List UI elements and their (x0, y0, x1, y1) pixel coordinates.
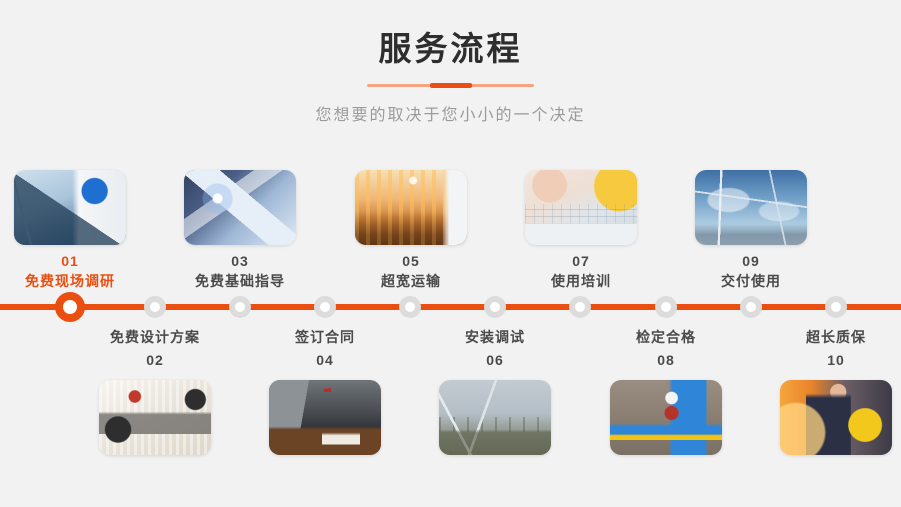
step-number-10: 10 (761, 350, 901, 370)
step-thumbnail-07 (525, 170, 637, 245)
step-label-01: 免费现场调研 (0, 271, 145, 292)
timeline-node-08[interactable] (655, 296, 677, 318)
step-card-06[interactable]: 安装调试 06 (420, 327, 570, 455)
step-thumbnail-06 (439, 380, 551, 455)
timeline-node-07[interactable] (569, 296, 591, 318)
page-title: 服务流程 (0, 28, 901, 70)
step-label-09: 交付使用 (676, 271, 826, 292)
timeline-node-02[interactable] (144, 296, 166, 318)
step-thumbnail-05 (355, 170, 467, 245)
step-label-03: 免费基础指导 (165, 271, 315, 292)
step-card-04[interactable]: 签订合同 04 (250, 327, 400, 455)
step-thumbnail-03 (184, 170, 296, 245)
timeline-node-09[interactable] (740, 296, 762, 318)
header: 服务流程 您想要的取决于您小小的一个决定 (0, 28, 901, 127)
timeline-node-06[interactable] (484, 296, 506, 318)
step-thumbnail-08 (610, 380, 722, 455)
title-divider-core (430, 83, 472, 88)
step-number-04: 04 (250, 350, 400, 370)
timeline-rail (0, 304, 901, 310)
step-card-09[interactable]: 09 交付使用 (676, 170, 826, 292)
step-thumbnail-09 (695, 170, 807, 245)
step-number-07: 07 (506, 251, 656, 271)
step-label-07: 使用培训 (506, 271, 656, 292)
step-label-05: 超宽运输 (336, 271, 486, 292)
step-card-08[interactable]: 检定合格 08 (591, 327, 741, 455)
step-number-02: 02 (80, 350, 230, 370)
step-card-10[interactable]: 超长质保 10 (761, 327, 901, 455)
step-number-05: 05 (336, 251, 486, 271)
step-label-10: 超长质保 (761, 327, 901, 348)
step-thumbnail-10 (780, 380, 892, 455)
title-divider (367, 84, 534, 87)
step-number-08: 08 (591, 350, 741, 370)
step-card-05[interactable]: 05 超宽运输 (336, 170, 486, 292)
step-card-07[interactable]: 07 使用培训 (506, 170, 656, 292)
step-thumbnail-04 (269, 380, 381, 455)
step-number-06: 06 (420, 350, 570, 370)
timeline-node-03[interactable] (229, 296, 251, 318)
step-thumbnail-01 (14, 170, 126, 245)
step-number-01: 01 (0, 251, 145, 271)
step-label-08: 检定合格 (591, 327, 741, 348)
step-number-09: 09 (676, 251, 826, 271)
step-label-06: 安装调试 (420, 327, 570, 348)
timeline-node-05[interactable] (399, 296, 421, 318)
page-subtitle: 您想要的取决于您小小的一个决定 (0, 105, 901, 127)
step-label-04: 签订合同 (250, 327, 400, 348)
service-process-infographic: 服务流程 您想要的取决于您小小的一个决定 01 免费现场调研 03 免费基础指导 (0, 0, 901, 507)
timeline-node-01[interactable] (55, 292, 85, 322)
step-thumbnail-02 (99, 380, 211, 455)
step-label-02: 免费设计方案 (80, 327, 230, 348)
step-card-03[interactable]: 03 免费基础指导 (165, 170, 315, 292)
step-number-03: 03 (165, 251, 315, 271)
timeline-node-10[interactable] (825, 296, 847, 318)
step-card-01[interactable]: 01 免费现场调研 (0, 170, 145, 292)
step-card-02[interactable]: 免费设计方案 02 (80, 327, 230, 455)
timeline-node-04[interactable] (314, 296, 336, 318)
